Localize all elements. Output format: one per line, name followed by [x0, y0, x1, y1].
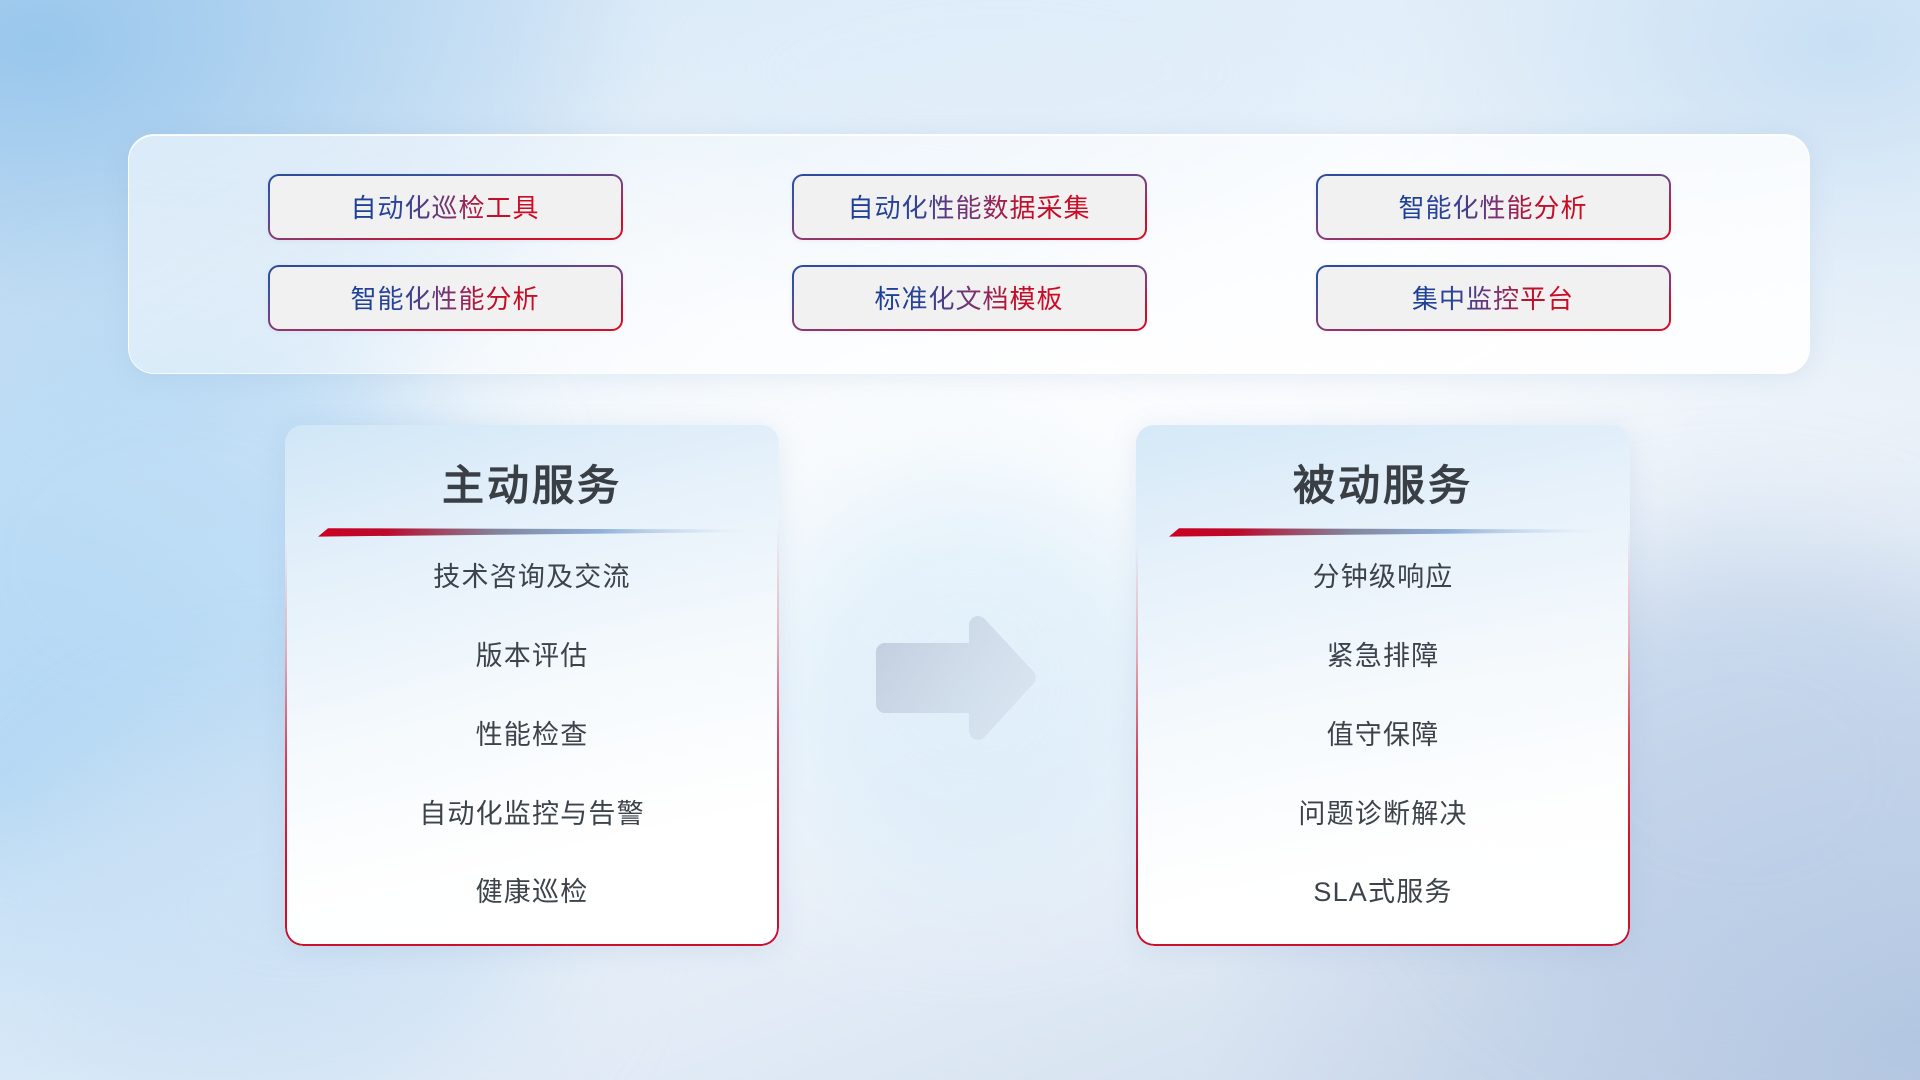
service-list-item: 问题诊断解决 — [1136, 798, 1630, 832]
service-list-item: 紧急排障 — [1136, 640, 1630, 674]
capability-tag-label: 智能化性能分析 — [350, 279, 539, 316]
service-item-list: 技术咨询及交流 版本评估 性能检查 自动化监控与告警 健康巡检 — [285, 561, 779, 910]
capability-tag-automated-performance-collection[interactable]: 自动化性能数据采集 — [792, 174, 1147, 240]
capability-panel: 自动化巡检工具 自动化性能数据采集 智能化性能分析 智能化性能分析 标准化文档模… — [128, 134, 1810, 374]
capability-tag-intelligent-performance-analysis[interactable]: 智能化性能分析 — [1316, 174, 1671, 240]
service-card-active[interactable]: 主动服务 技术咨询及交流 版本评估 性能检查 — [285, 425, 779, 946]
capability-tag-label: 集中监控平台 — [1412, 279, 1574, 316]
capability-tag-automated-inspection-tool[interactable]: 自动化巡检工具 — [268, 174, 623, 240]
service-list-item: 自动化监控与告警 — [285, 798, 779, 832]
service-list-item: 技术咨询及交流 — [285, 561, 779, 595]
service-item-list: 分钟级响应 紧急排障 值守保障 问题诊断解决 SLA式服务 — [1136, 561, 1630, 910]
service-list-item: 值守保障 — [1136, 719, 1630, 753]
service-list-item: SLA式服务 — [1136, 876, 1630, 910]
capability-tag-label: 自动化巡检工具 — [350, 188, 539, 225]
service-list-item: 性能检查 — [285, 719, 779, 753]
arrow-right-icon — [868, 616, 1040, 740]
card-divider — [318, 526, 746, 537]
capability-tag-intelligent-performance-analysis-2[interactable]: 智能化性能分析 — [268, 265, 623, 331]
capability-tag-label: 标准化文档模板 — [874, 279, 1063, 316]
service-card-passive[interactable]: 被动服务 分钟级响应 紧急排障 值守保障 — [1136, 425, 1630, 946]
capability-tag-centralized-monitoring-platform[interactable]: 集中监控平台 — [1316, 265, 1671, 331]
service-list-item: 版本评估 — [285, 640, 779, 674]
capability-tag-standard-doc-template[interactable]: 标准化文档模板 — [792, 265, 1147, 331]
capability-tag-label: 自动化性能数据采集 — [847, 188, 1090, 225]
card-title: 主动服务 — [285, 462, 779, 510]
card-divider — [1169, 526, 1597, 537]
slide-stage: 自动化巡检工具 自动化性能数据采集 智能化性能分析 智能化性能分析 标准化文档模… — [0, 0, 1920, 1080]
capability-tag-label: 智能化性能分析 — [1398, 188, 1587, 225]
background-glow-center — [760, 470, 1180, 890]
card-title: 被动服务 — [1136, 462, 1630, 510]
service-list-item: 分钟级响应 — [1136, 561, 1630, 595]
service-list-item: 健康巡检 — [285, 876, 779, 910]
